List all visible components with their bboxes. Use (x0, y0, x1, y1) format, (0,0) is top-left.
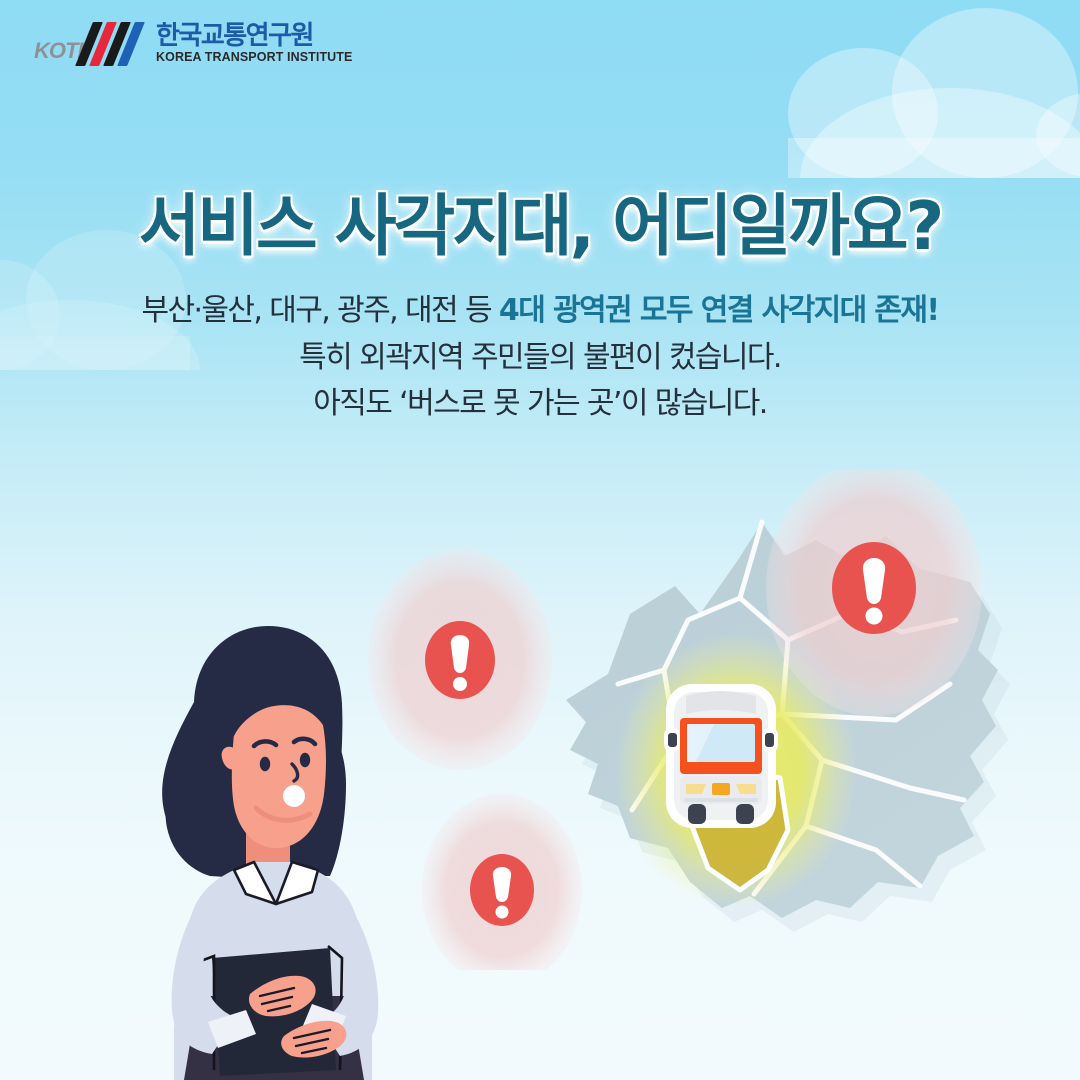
koti-acronym: KOTI (34, 38, 83, 64)
page-title: 서비스 사각지대, 어디일까요? (0, 172, 1080, 269)
logo-name-english: KOREA TRANSPORT INSTITUTE (156, 51, 352, 65)
alert-exclamation-dot (453, 677, 467, 691)
logo-name-korean: 한국교통연구원 (156, 23, 352, 50)
subheading-line-1-plain: 부산·울산, 대구, 광주, 대전 등 (141, 293, 498, 328)
koti-logo: KOTI 한국교통연구원 KOREA TRANSPORT INSTITUTE (34, 22, 352, 66)
subheading-line-1-emphasis: 4대 광역권 모두 연결 사각지대 존재! (499, 293, 939, 328)
alert-marker-northeast (766, 470, 982, 716)
woman-with-folder (78, 618, 428, 1080)
subheading-line-3: 아직도 ‘버스로 못 가는 곳’이 많습니다. (0, 381, 1080, 428)
alert-exclamation-dot (496, 906, 509, 919)
alert-marker-southwest (422, 794, 582, 970)
koti-mark-icon: KOTI (34, 22, 146, 66)
eye-right (300, 753, 310, 767)
cloud-shape-top-right (800, 88, 1080, 178)
subheading-line-2: 특히 외곽지역 주민들의 불편이 컸습니다. (0, 335, 1080, 382)
subheading-line-1: 부산·울산, 대구, 광주, 대전 등 4대 광역권 모두 연결 사각지대 존재… (0, 288, 1080, 335)
eye-left (260, 757, 270, 771)
infographic-card: KOTI 한국교통연구원 KOREA TRANSPORT INSTITUTE 서… (0, 0, 1080, 1080)
subheading-block: 부산·울산, 대구, 광주, 대전 등 4대 광역권 모두 연결 사각지대 존재… (0, 288, 1080, 428)
bus-icon (664, 684, 778, 828)
mouth (283, 785, 305, 807)
korea-map-illustration (336, 470, 1036, 970)
logo-wordmark: 한국교통연구원 KOREA TRANSPORT INSTITUTE (156, 23, 352, 65)
alert-exclamation-dot (866, 608, 883, 625)
